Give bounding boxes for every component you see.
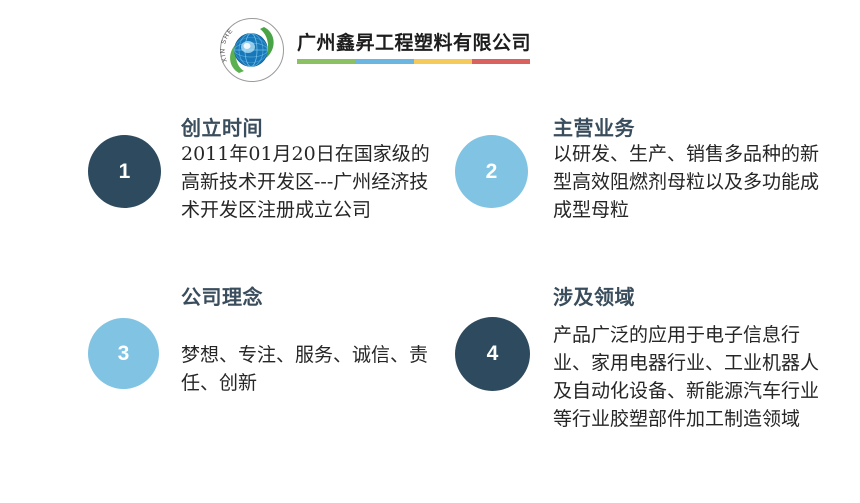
badge-number-3: 3	[88, 318, 159, 389]
info-block-2: 2 主营业务 以研发、生产、销售多品种的新型高效阻燃剂母粒以及多功能成成型母粒	[455, 112, 830, 262]
block-heading-3: 公司理念	[181, 281, 263, 310]
info-block-1: 1 创立时间 2011年01月20日在国家级的高新技术开发区---广州经济技术开…	[88, 112, 448, 262]
block-body-1: 2011年01月20日在国家级的高新技术开发区---广州经济技术开发区注册成立公…	[181, 140, 443, 224]
block-heading-1: 创立时间	[181, 112, 263, 141]
badge-number-2: 2	[455, 135, 528, 208]
block-body-3: 梦想、专注、服务、诚信、责任、创新	[181, 341, 443, 397]
badge-number-1: 1	[88, 135, 161, 208]
accent-segment-red	[472, 59, 530, 64]
accent-segment-blue	[355, 59, 413, 64]
badge-number-4: 4	[455, 317, 530, 391]
company-name: 广州鑫昇工程塑料有限公司	[297, 28, 531, 55]
accent-color-bar	[297, 59, 530, 64]
block-body-2: 以研发、生产、销售多品种的新型高效阻燃剂母粒以及多功能成成型母粒	[553, 140, 828, 224]
block-body-4: 产品广泛的应用于电子信息行业、家用电器行业、工业机器人及自动化设备、新能源汽车行…	[553, 321, 831, 433]
header-logo-bar: XIN SHENG 广州鑫昇工程塑料有限公司	[215, 14, 545, 84]
block-heading-2: 主营业务	[553, 112, 635, 141]
globe-leaf-logo-icon: XIN SHENG	[218, 16, 286, 84]
accent-segment-gold	[414, 59, 472, 64]
info-block-3: 3 公司理念 梦想、专注、服务、诚信、责任、创新	[88, 281, 448, 416]
accent-segment-green	[297, 59, 355, 64]
info-block-4: 4 涉及领域 产品广泛的应用于电子信息行业、家用电器行业、工业机器人及自动化设备…	[455, 281, 830, 496]
block-heading-4: 涉及领域	[553, 281, 635, 310]
